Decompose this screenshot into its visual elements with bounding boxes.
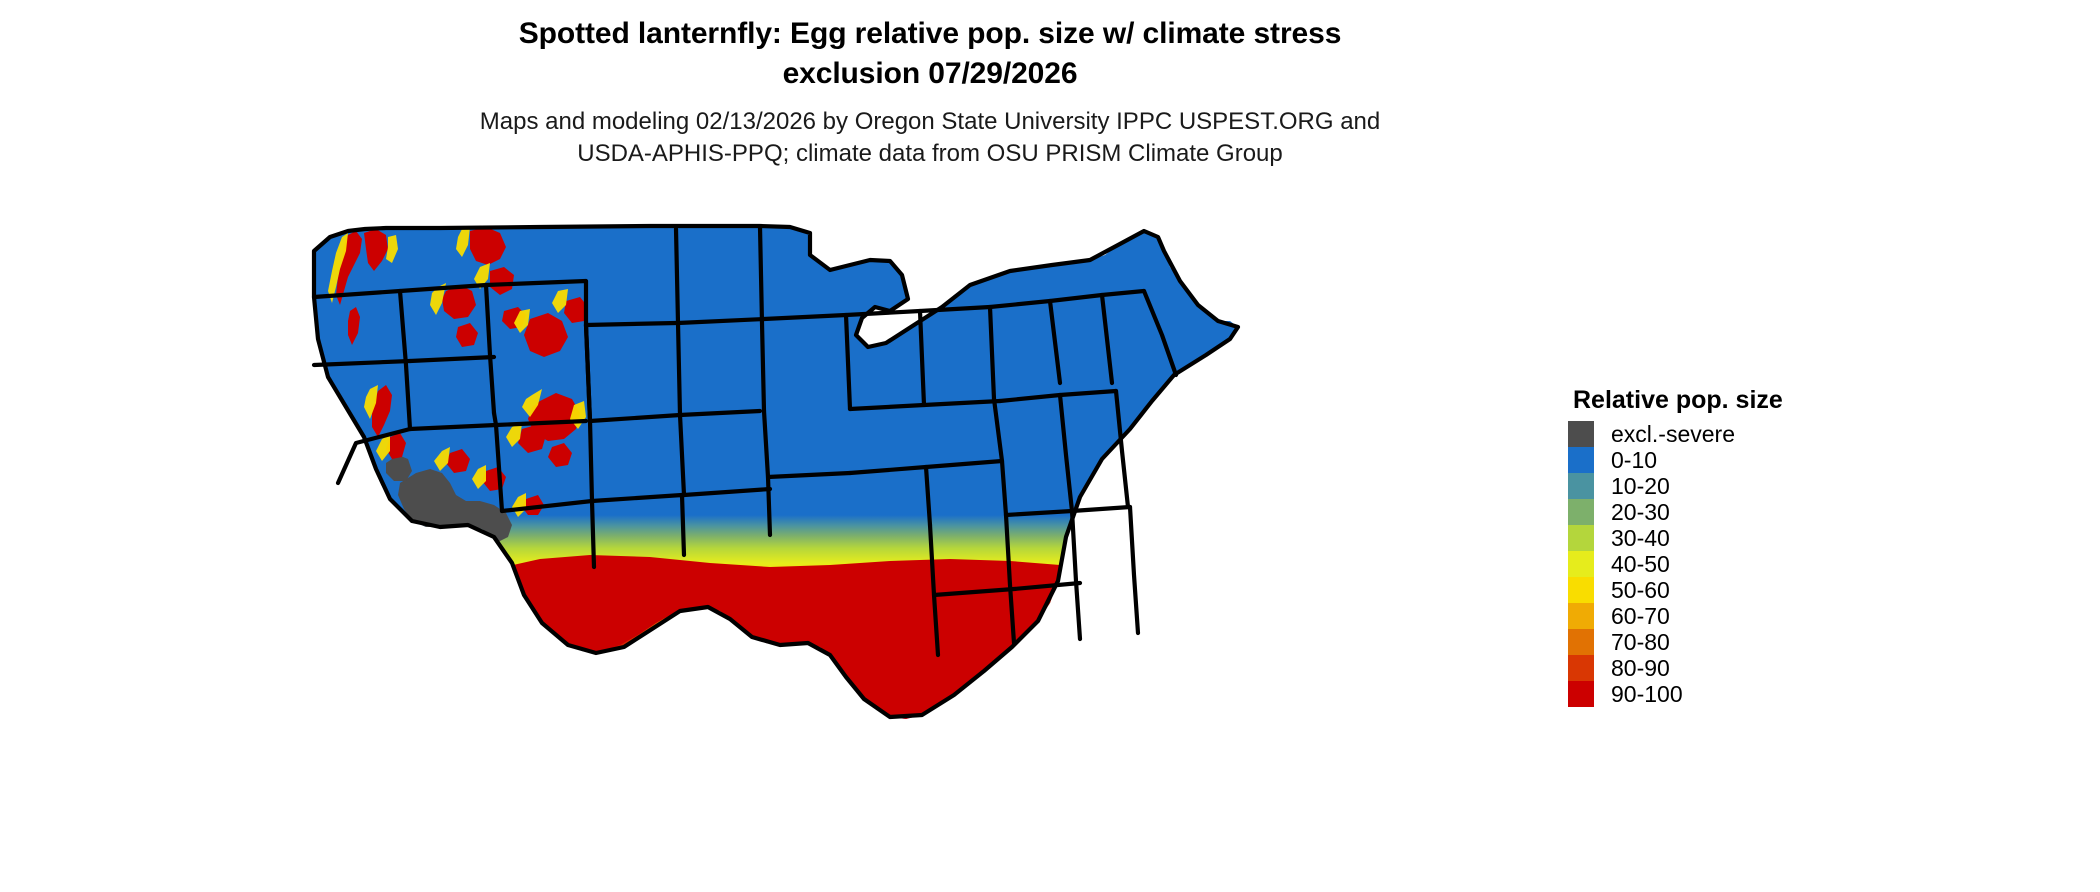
map-svg: [290, 215, 1370, 885]
legend-label: 30-40: [1611, 527, 1670, 550]
us-climate-stress-map: [290, 215, 1370, 885]
legend-label: 40-50: [1611, 553, 1670, 576]
legend-row[interactable]: 70-80: [1568, 629, 1868, 655]
legend-row[interactable]: 90-100: [1568, 681, 1868, 707]
legend-title: Relative pop. size: [1573, 388, 1868, 413]
legend-label: 50-60: [1611, 579, 1670, 602]
title-block: Spotted lanternfly: Egg relative pop. si…: [0, 14, 1860, 171]
legend-row[interactable]: 50-60: [1568, 577, 1868, 603]
legend-row[interactable]: 60-70: [1568, 603, 1868, 629]
legend-row[interactable]: 10-20: [1568, 473, 1868, 499]
legend-row[interactable]: 20-30: [1568, 499, 1868, 525]
legend-row[interactable]: 80-90: [1568, 655, 1868, 681]
legend-color-swatch: [1568, 447, 1594, 473]
legend-color-swatch: [1568, 655, 1594, 681]
legend-color-swatch: [1568, 525, 1594, 551]
legend-color-swatch: [1568, 629, 1594, 655]
legend-color-swatch: [1568, 473, 1594, 499]
legend-label: 80-90: [1611, 657, 1670, 680]
legend-label: 20-30: [1611, 501, 1670, 524]
legend-row[interactable]: 40-50: [1568, 551, 1868, 577]
legend-color-swatch: [1568, 603, 1594, 629]
legend-row[interactable]: 0-10: [1568, 447, 1868, 473]
page-subtitle: Maps and modeling 02/13/2026 by Oregon S…: [0, 106, 1860, 171]
legend-label: 90-100: [1611, 683, 1683, 706]
map-legend: Relative pop. size excl.-severe0-1010-20…: [1568, 388, 1868, 707]
legend-items: excl.-severe0-1010-2020-3030-4040-5050-6…: [1568, 421, 1868, 707]
page-title: Spotted lanternfly: Egg relative pop. si…: [0, 14, 1860, 94]
legend-row[interactable]: 30-40: [1568, 525, 1868, 551]
legend-label: 60-70: [1611, 605, 1670, 628]
legend-label: excl.-severe: [1611, 423, 1735, 446]
legend-color-swatch: [1568, 421, 1594, 447]
legend-label: 70-80: [1611, 631, 1670, 654]
legend-label: 0-10: [1611, 449, 1657, 472]
legend-color-swatch: [1568, 499, 1594, 525]
legend-color-swatch: [1568, 577, 1594, 603]
legend-color-swatch: [1568, 681, 1594, 707]
legend-row[interactable]: excl.-severe: [1568, 421, 1868, 447]
legend-label: 10-20: [1611, 475, 1670, 498]
legend-color-swatch: [1568, 551, 1594, 577]
